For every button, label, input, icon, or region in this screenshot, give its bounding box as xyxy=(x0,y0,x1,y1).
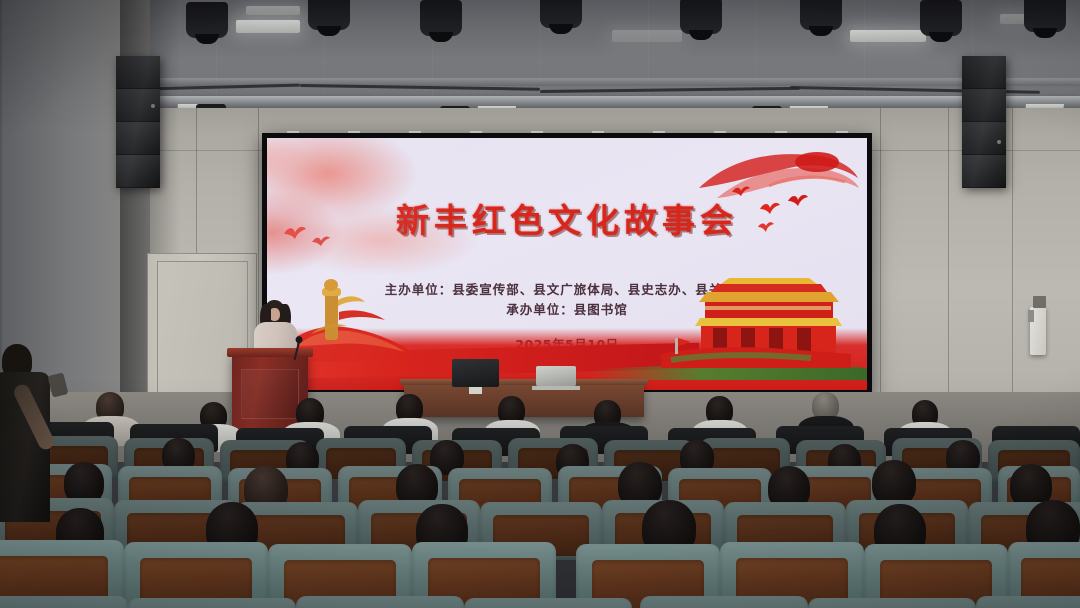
stage-light-fixture xyxy=(186,2,228,38)
wall-seam xyxy=(880,108,881,438)
ceiling-light-panel xyxy=(246,6,300,15)
led-screen: 新丰红色文化故事会 主办单位：县委宣传部、县文广旅体局、县史志办、县关工委 承办… xyxy=(267,138,867,390)
stage-light-fixture xyxy=(540,0,582,28)
auditorium-photo: 新丰红色文化故事会 主办单位：县委宣传部、县文广旅体局、县史志办、县关工委 承办… xyxy=(0,0,1080,608)
stage-light-fixture xyxy=(680,0,722,34)
stage-light-fixture xyxy=(420,0,462,36)
wall-seam xyxy=(1012,108,1013,438)
standing-attendee-with-phone xyxy=(0,344,58,544)
stage-light-fixture xyxy=(920,0,962,36)
ceiling-light-panel xyxy=(612,30,682,42)
wall-mounted-speaker xyxy=(1030,307,1046,355)
led-screen-bezel: 新丰红色文化故事会 主办单位：县委宣传部、县文广旅体局、县史志办、县关工委 承办… xyxy=(262,133,872,396)
ceiling-light-panel xyxy=(850,30,926,42)
seat[interactable] xyxy=(808,598,976,608)
green-ground-graphic xyxy=(591,366,867,380)
seat[interactable] xyxy=(976,596,1080,608)
line-array-speaker-left xyxy=(116,56,160,188)
seat[interactable] xyxy=(296,596,464,608)
line-array-speaker-right xyxy=(962,56,1006,188)
event-title: 新丰红色文化故事会 xyxy=(267,194,867,242)
stage-light-fixture xyxy=(800,0,842,30)
audience-seating xyxy=(0,390,1080,608)
tiananmen-gate-graphic xyxy=(661,276,851,368)
podium-top xyxy=(227,348,313,357)
laptop xyxy=(536,366,576,386)
seat[interactable] xyxy=(0,596,128,608)
monitor xyxy=(452,359,499,387)
seat[interactable] xyxy=(128,598,296,608)
stage-light-fixture xyxy=(1024,0,1066,32)
wall-seam xyxy=(948,108,949,438)
stage-light-fixture xyxy=(308,0,350,30)
seat[interactable] xyxy=(640,596,808,608)
ceiling-light-panel xyxy=(236,20,300,33)
seat[interactable] xyxy=(464,598,632,608)
